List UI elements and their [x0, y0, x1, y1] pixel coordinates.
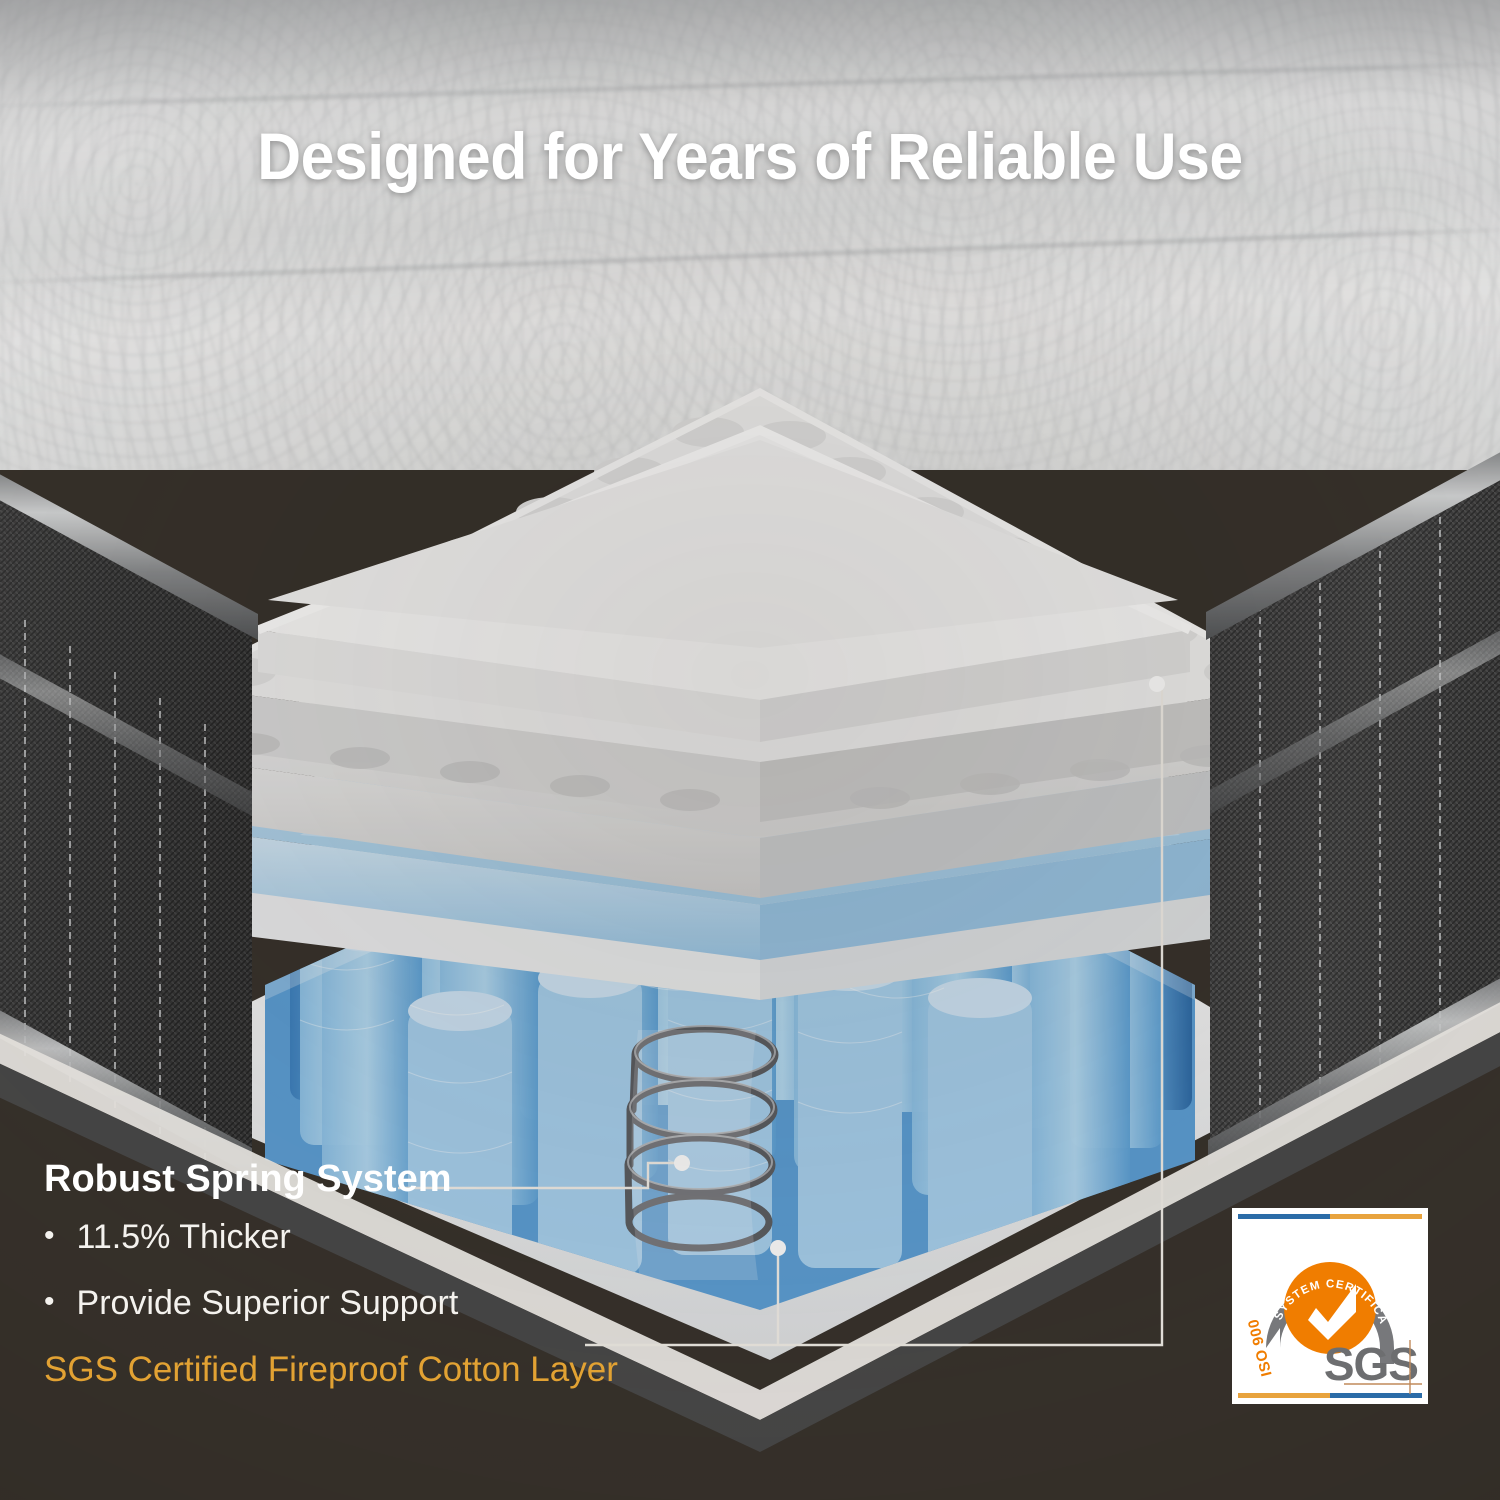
- sgs-certification-badge: SYSTEM CERTIFICATION ISO 9001 SGS: [1232, 1208, 1428, 1404]
- badge-border-orange-top: [1330, 1214, 1422, 1219]
- bullet-label: 11.5% Thicker: [77, 1220, 291, 1254]
- badge-border-orange-bottom: [1238, 1393, 1330, 1398]
- list-item: • Provide Superior Support: [44, 1286, 744, 1320]
- bullet-marker-icon: •: [44, 1286, 55, 1318]
- list-item: • 11.5% Thicker: [44, 1220, 744, 1254]
- spring-system-heading: Robust Spring System: [44, 1160, 744, 1198]
- callout-text-block: Robust Spring System • 11.5% Thicker • P…: [44, 1160, 744, 1387]
- infographic-canvas: Designed for Years of Reliable Use Robus…: [0, 0, 1500, 1500]
- sgs-badge-graphic: SYSTEM CERTIFICATION ISO 9001 SGS: [1232, 1208, 1428, 1404]
- feature-bullet-list: • 11.5% Thicker • Provide Superior Suppo…: [44, 1220, 744, 1320]
- bullet-label: Provide Superior Support: [77, 1286, 459, 1320]
- sgs-cotton-layer-label: SGS Certified Fireproof Cotton Layer: [44, 1352, 744, 1387]
- badge-brand-text: SGS: [1324, 1338, 1418, 1390]
- page-title: Designed for Years of Reliable Use: [60, 118, 1440, 194]
- badge-border-blue-top: [1238, 1214, 1330, 1219]
- badge-border-blue-bottom: [1330, 1393, 1422, 1398]
- bullet-marker-icon: •: [44, 1220, 55, 1252]
